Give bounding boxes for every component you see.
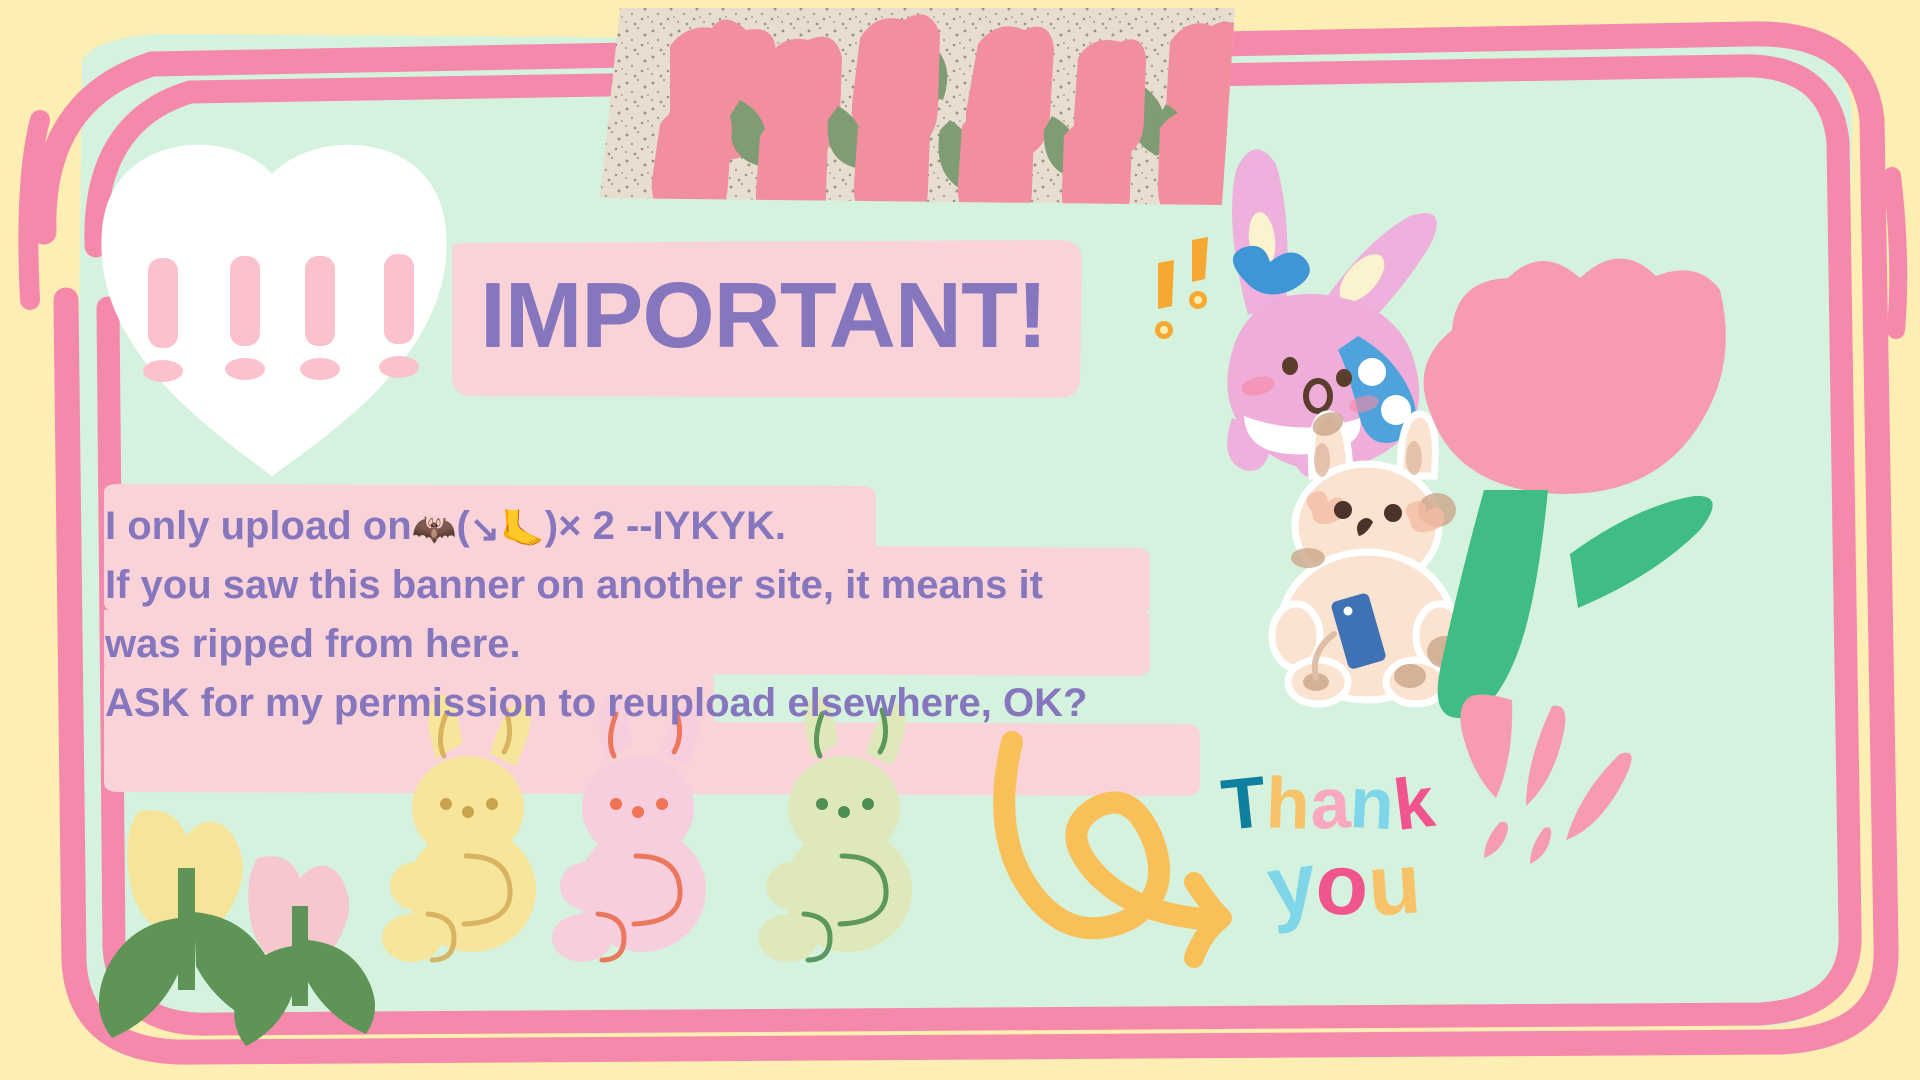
title-banner: IMPORTANT! [440,246,1090,394]
body-line-3: was ripped from here. [105,615,1087,674]
foot-icon: 🦶 [500,508,545,549]
line1-suffix: × 2 --IYKYK. [558,497,786,556]
letter-o: o [1313,840,1371,929]
letter-n: n [1348,767,1396,841]
body-line-4: ASK for my permission to reupload elsewh… [105,674,1087,733]
thank-you-row-1: Thank [1222,768,1434,840]
letter-a: a [1308,767,1352,841]
line1-paren-open: ( [456,504,469,548]
line1-prefix: I only upload on [105,497,412,556]
body-copy: I only upload on 🦇(↘🦶) × 2 --IYKYK. If y… [105,497,1087,733]
letter-k: k [1390,766,1439,842]
letter-T: T [1218,766,1269,842]
body-line-2: If you saw this banner on another site, … [105,556,1087,615]
line1-paren-close: ) [545,504,558,548]
thank-you-lettering: Thank you [1222,768,1512,958]
thank-you-row-2: you [1268,842,1421,928]
letter-u: u [1365,840,1423,929]
letter-h: h [1265,767,1311,840]
page-title: IMPORTANT! [480,260,1047,372]
washi-tape-decoration [600,8,1244,232]
banner-canvas: IMPORTANT! I only upload on 🦇(↘🦶) × 2 --… [0,0,1920,1080]
arrow-down-right-icon: ↘ [470,508,500,549]
bat-icon: 🦇 [412,508,457,549]
body-line-1: I only upload on 🦇(↘🦶) × 2 --IYKYK. [105,497,1087,556]
